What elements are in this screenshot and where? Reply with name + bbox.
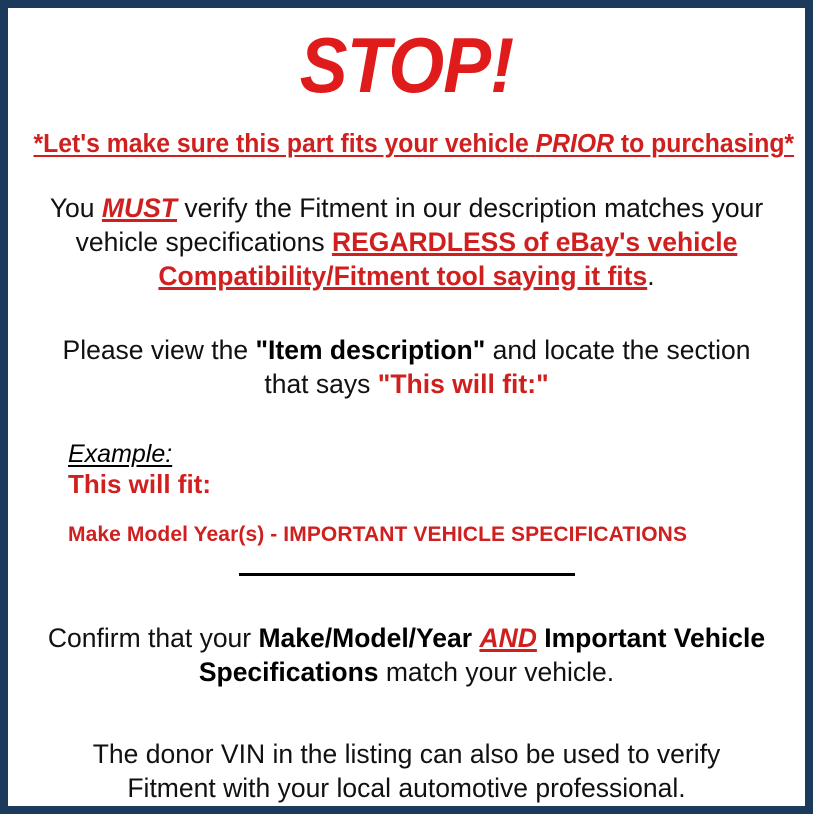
divider-wrap [22, 573, 791, 576]
example-spec-line: Make Model Year(s) - IMPORTANT VEHICLE S… [68, 522, 791, 547]
emphasis-item-description: "Item description" [255, 335, 485, 365]
example-label: Example: [68, 440, 791, 469]
must-text-1: You [50, 193, 102, 223]
paragraph-item-description: Please view the "Item description" and l… [22, 334, 791, 402]
notice-content: STOP! *Let's make sure this part fits yo… [8, 26, 805, 814]
paragraph-must-verify: You MUST verify the Fitment in our descr… [22, 192, 791, 294]
example-block: Example: This will fit: Make Model Year(… [22, 440, 791, 548]
stop-title: STOP! [53, 26, 760, 104]
confirm-text-1: Confirm that your [48, 623, 259, 653]
emphasis-this-will-fit: "This will fit:" [378, 369, 549, 399]
subtitle-suffix: to purchasing* [614, 130, 794, 158]
emphasis-make-model-year: Make/Model/Year [258, 623, 472, 653]
subtitle-line: *Let's make sure this part fits your veh… [34, 130, 780, 158]
fitment-notice-banner: STOP! *Let's make sure this part fits yo… [0, 0, 813, 814]
example-fit-heading: This will fit: [68, 470, 791, 500]
must-text-3: . [647, 261, 654, 291]
subtitle-emphasis-prior: PRIOR [536, 130, 614, 158]
subtitle-prefix: *Let's make sure this part fits your veh… [34, 130, 536, 158]
paragraph-donor-vin: The donor VIN in the listing can also be… [22, 738, 791, 806]
emphasis-and: AND [479, 623, 536, 653]
confirm-text-2: match your vehicle. [379, 657, 615, 687]
emphasis-must: MUST [102, 193, 177, 223]
paragraph-confirm: Confirm that your Make/Model/Year AND Im… [22, 622, 791, 690]
view-text-1: Please view the [63, 335, 256, 365]
horizontal-divider [239, 573, 575, 576]
